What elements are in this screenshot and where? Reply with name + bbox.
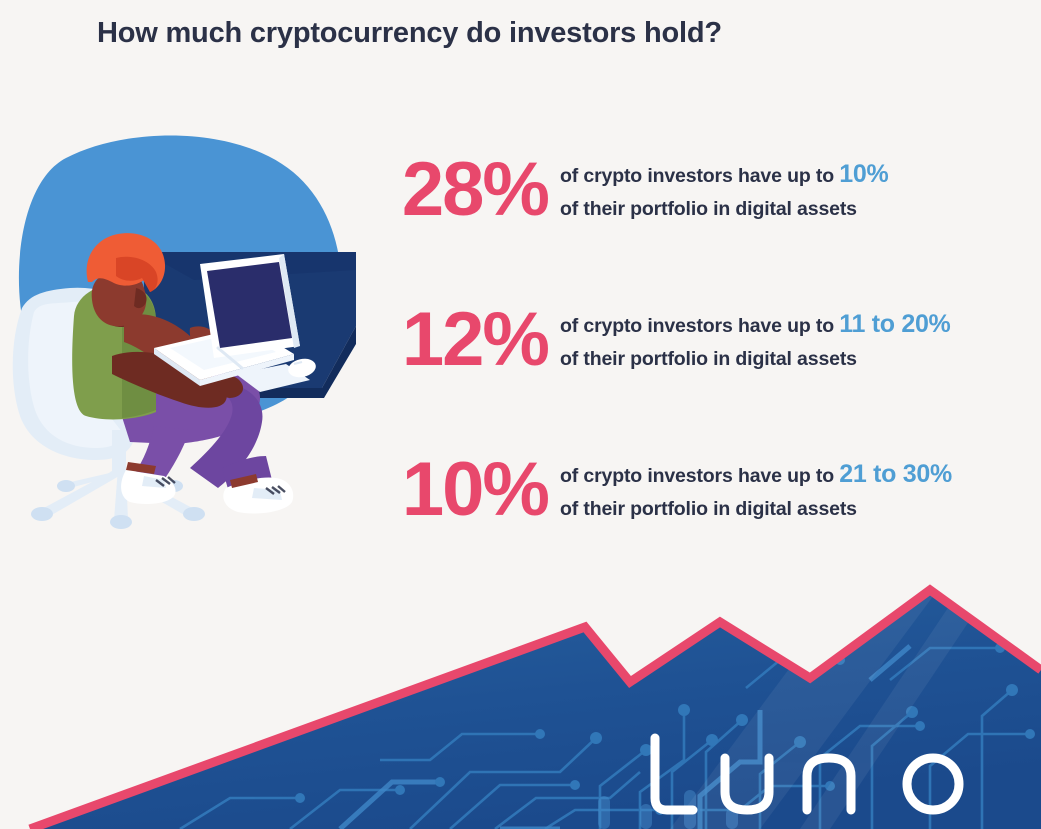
stat-description: of crypto investors have up to 10% of th… [560,155,1030,225]
logo-letter-o [907,758,959,810]
stat-percent-value: 28% [370,154,560,226]
stat-description-prefix: of crypto investors have up to [560,315,839,337]
luno-logo [641,730,1011,822]
stat-row: 28% of crypto investors have up to 10% o… [370,134,1030,246]
stat-percent-value: 10% [370,454,560,526]
stat-description: of crypto investors have up to 11 to 20%… [560,305,1030,375]
stat-row: 12% of crypto investors have up to 11 to… [370,284,1030,396]
stat-description-line-2: of their portfolio in digital assets [560,194,1030,225]
stat-row: 10% of crypto investors have up to 21 to… [370,434,1030,546]
logo-letter-l [655,738,693,810]
stat-range-highlight: 21 to 30% [839,460,952,488]
statistics-list: 28% of crypto investors have up to 10% o… [370,134,1030,584]
stat-description-line-1: of crypto investors have up to 21 to 30% [560,455,1030,495]
stat-description-prefix: of crypto investors have up to [560,165,839,187]
stat-range-highlight: 11 to 20% [839,310,950,338]
page-title: How much cryptocurrency do investors hol… [97,16,957,51]
stat-description-line-1: of crypto investors have up to 10% [560,155,1030,195]
stat-range-highlight: 10% [839,160,888,188]
infographic-canvas: How much cryptocurrency do investors hol… [0,0,1041,829]
stat-description: of crypto investors have up to 21 to 30%… [560,455,1030,525]
logo-letter-n [807,758,851,810]
person-working-on-laptop-illustration [4,130,356,530]
logo-letter-u [725,758,769,810]
stat-description-line-2: of their portfolio in digital assets [560,344,1030,375]
stat-description-prefix: of crypto investors have up to [560,465,839,487]
stat-description-line-1: of crypto investors have up to 11 to 20% [560,305,1030,345]
stat-description-line-2: of their portfolio in digital assets [560,494,1030,525]
stat-percent-value: 12% [370,304,560,376]
